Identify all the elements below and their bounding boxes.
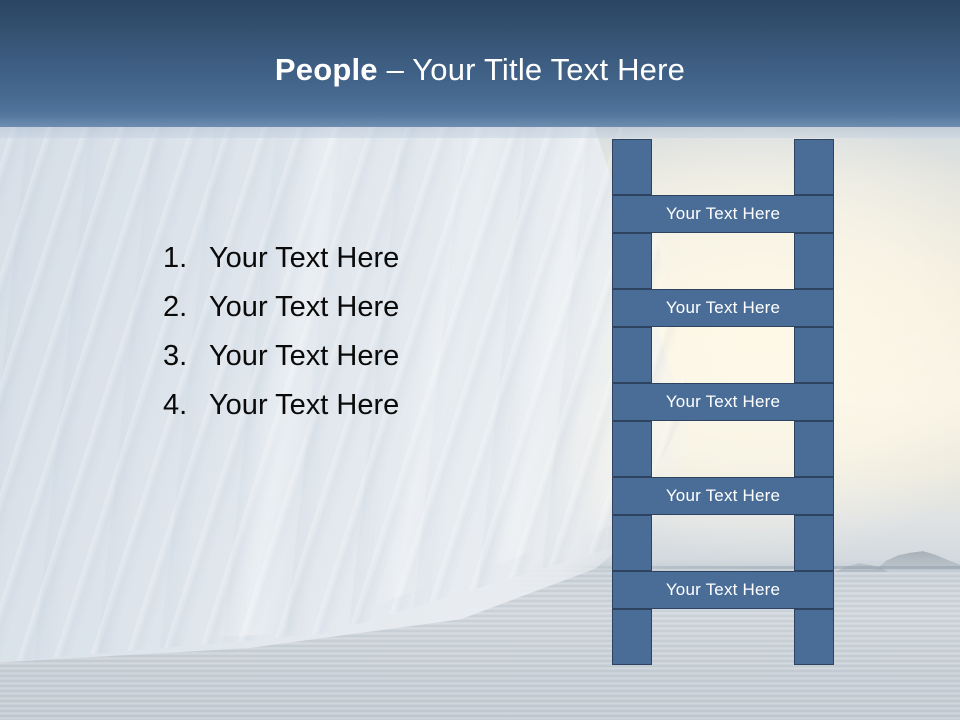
list-item[interactable]: 2. Your Text Here	[163, 283, 583, 332]
ladder-rung-label: Your Text Here	[666, 581, 780, 599]
ladder-rung-label: Your Text Here	[666, 393, 780, 411]
ladder-rail-left	[612, 233, 652, 289]
list-item[interactable]: 3. Your Text Here	[163, 332, 583, 381]
ladder-gap	[612, 233, 834, 289]
list-item-number: 2.	[163, 283, 209, 332]
ladder-rung[interactable]: Your Text Here	[612, 477, 834, 515]
ladder-rail-right	[794, 421, 834, 477]
list-item-number: 4.	[163, 381, 209, 430]
ladder-rung-label: Your Text Here	[666, 487, 780, 505]
title-bar-fade	[0, 112, 960, 138]
ladder-rail-left	[612, 421, 652, 477]
list-item-label: Your Text Here	[209, 234, 583, 283]
list-item-label: Your Text Here	[209, 283, 583, 332]
list-item-label: Your Text Here	[209, 381, 583, 430]
ladder-rail-right	[794, 515, 834, 571]
page-title-emphasis: People	[275, 52, 378, 87]
ladder-rung[interactable]: Your Text Here	[612, 571, 834, 609]
ladder-gap	[612, 609, 834, 665]
ladder-gap	[612, 515, 834, 571]
list-item-label: Your Text Here	[209, 332, 583, 381]
ladder-diagram: Your Text Here Your Text Here Your Text …	[612, 139, 834, 656]
ladder-rail-left	[612, 515, 652, 571]
list-item-number: 3.	[163, 332, 209, 381]
page-title: People – Your Title Text Here	[0, 50, 960, 90]
ladder-rung-label: Your Text Here	[666, 205, 780, 223]
ladder-rung[interactable]: Your Text Here	[612, 289, 834, 327]
presentation-slide: People – Your Title Text Here 1. Your Te…	[0, 0, 960, 720]
ladder-rail-left	[612, 327, 652, 383]
ladder-gap	[612, 421, 834, 477]
ladder-rail-right	[794, 327, 834, 383]
list-item-number: 1.	[163, 234, 209, 283]
list-item[interactable]: 1. Your Text Here	[163, 234, 583, 283]
numbered-list: 1. Your Text Here 2. Your Text Here 3. Y…	[163, 234, 583, 430]
list-item[interactable]: 4. Your Text Here	[163, 381, 583, 430]
ladder-rung-label: Your Text Here	[666, 299, 780, 317]
ladder-rung[interactable]: Your Text Here	[612, 195, 834, 233]
page-title-rest: – Your Title Text Here	[378, 52, 685, 87]
ladder-rail-right	[794, 233, 834, 289]
ladder-rail-left	[612, 139, 652, 195]
ladder-gap	[612, 139, 834, 195]
ladder-rail-right	[794, 609, 834, 665]
ladder-rail-left	[612, 609, 652, 665]
ladder-gap	[612, 327, 834, 383]
ladder-rung[interactable]: Your Text Here	[612, 383, 834, 421]
ladder-rail-right	[794, 139, 834, 195]
